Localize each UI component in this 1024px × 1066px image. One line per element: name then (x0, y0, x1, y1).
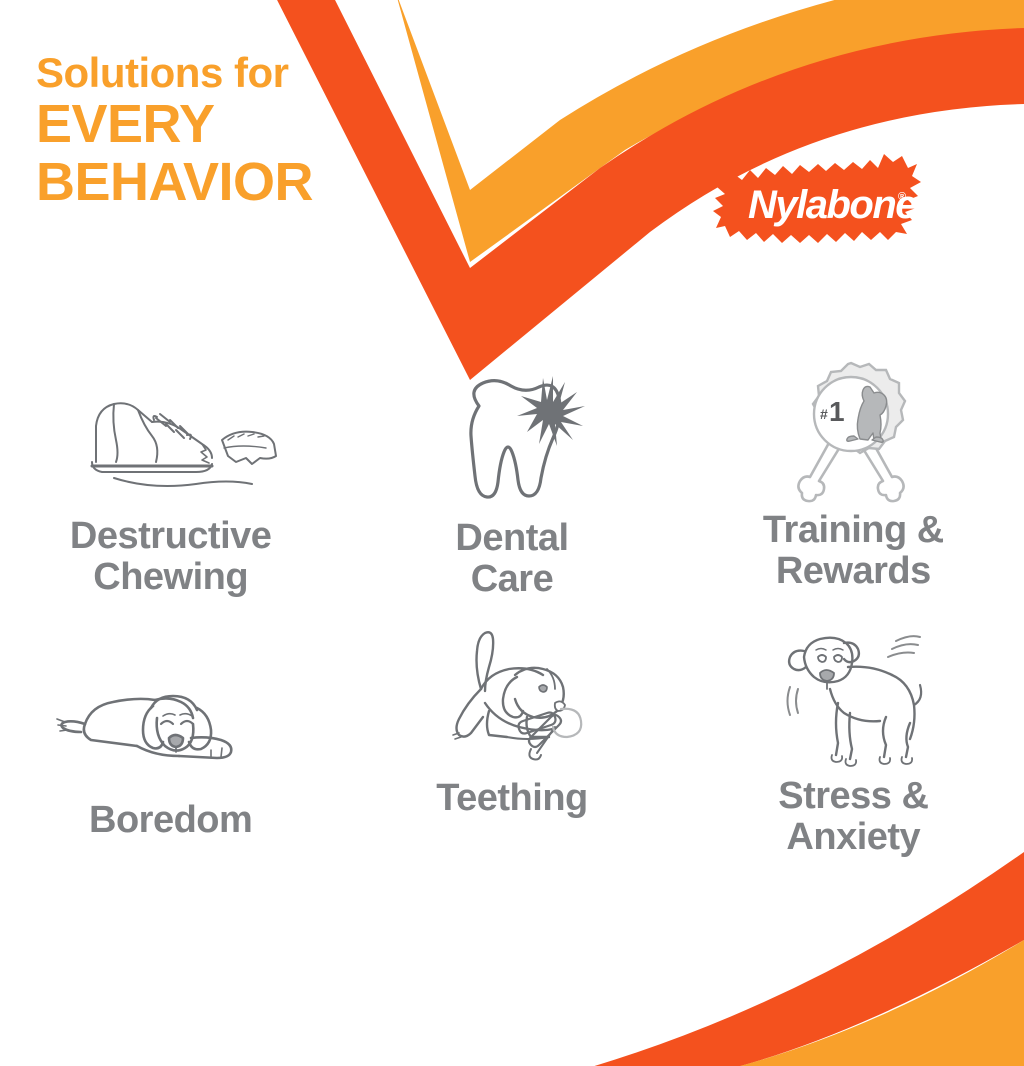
rosette-badge: # 1 (813, 363, 905, 453)
label-line-2: Anxiety (778, 817, 928, 858)
nylabone-logo: Nylabone ® (712, 148, 926, 254)
award-rosette-dog-icon: # 1 (768, 362, 938, 502)
label-line-1: Training & (763, 509, 944, 551)
behavior-grid: Destructive Chewing (0, 368, 1024, 892)
badge-number-one: 1 (829, 396, 845, 427)
behavior-label-stress-anxiety: Stress & Anxiety (778, 776, 928, 858)
label-line-2: Chewing (70, 557, 271, 598)
headline-line-1: Solutions for (36, 52, 416, 95)
label-line-1: Stress & (778, 775, 928, 817)
behavior-item-dental-care[interactable]: Dental Care (341, 368, 682, 630)
behavior-item-destructive-chewing[interactable]: Destructive Chewing (0, 368, 341, 630)
label-line-1: Destructive (70, 515, 271, 557)
label-line-1: Teething (436, 777, 588, 819)
behavior-label-boredom: Boredom (89, 800, 252, 841)
label-line-2: Rewards (763, 551, 944, 592)
behavior-label-teething: Teething (436, 778, 588, 819)
headline-line-3: BEHAVIOR (36, 153, 416, 211)
headline-line-2: EVERY (36, 95, 416, 153)
headline-block: Solutions for EVERY BEHAVIOR (36, 52, 416, 211)
bottom-swoosh-amber (700, 940, 1024, 1066)
svg-text:Nylabone: Nylabone (748, 183, 917, 227)
behavior-label-training-rewards: Training & Rewards (763, 510, 944, 592)
badge-number-hash: # (820, 406, 828, 422)
label-line-2: Care (455, 559, 568, 600)
label-line-1: Dental (455, 517, 568, 559)
poster-canvas: Solutions for EVERY BEHAVIOR Nylabone ® (0, 0, 1024, 1066)
svg-text:®: ® (898, 191, 906, 203)
bored-lying-dog-icon (51, 652, 291, 792)
behavior-item-training-rewards[interactable]: # 1 Training & Rewards (683, 368, 1024, 630)
sparkling-tooth-icon (427, 370, 597, 510)
behavior-item-teething[interactable]: Teething (341, 630, 682, 892)
logo-wordmark: Nylabone ® (748, 183, 917, 227)
puppy-chewing-toy-icon (427, 630, 597, 770)
top-swoosh-amber (395, 0, 1024, 262)
behavior-label-dental-care: Dental Care (455, 518, 568, 600)
anxious-standing-dog-icon (768, 628, 938, 768)
sparkle-icon (517, 376, 585, 446)
chewed-shoe-icon (56, 368, 286, 508)
behavior-item-stress-anxiety[interactable]: Stress & Anxiety (683, 630, 1024, 892)
behavior-label-destructive-chewing: Destructive Chewing (70, 516, 271, 598)
behavior-item-boredom[interactable]: Boredom (0, 630, 341, 892)
label-line-1: Boredom (89, 799, 252, 841)
